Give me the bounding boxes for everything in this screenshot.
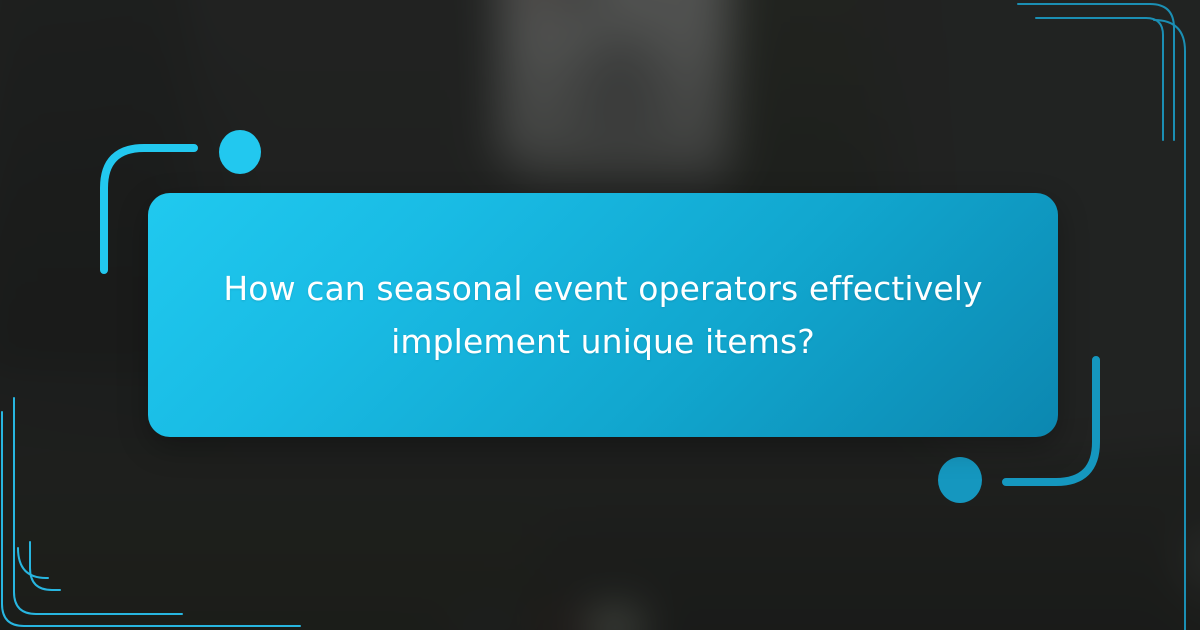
question-text: How can seasonal event operators effecti… [204, 262, 1002, 369]
accent-dot-bottom-right [938, 457, 982, 503]
page-root: How can seasonal event operators effecti… [0, 0, 1200, 630]
question-card: How can seasonal event operators effecti… [148, 193, 1058, 437]
accent-dot-top-left [219, 130, 261, 174]
